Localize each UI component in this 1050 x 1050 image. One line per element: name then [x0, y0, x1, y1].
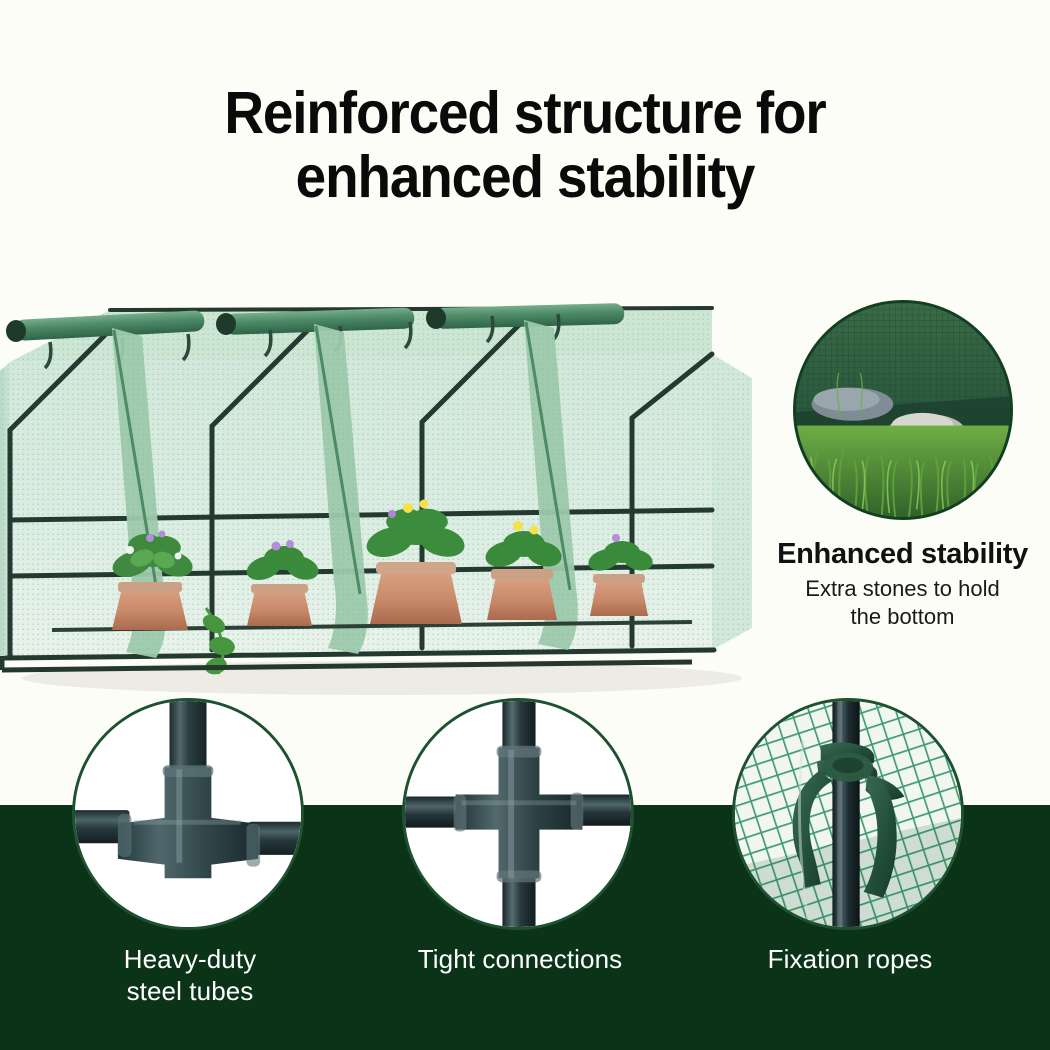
greenhouse-hero-image [0, 258, 782, 710]
enhanced-stability-callout: Enhanced stability Extra stones to hold … [755, 300, 1050, 630]
fixation-ropes-image [732, 698, 964, 930]
heavy-duty-steel-tubes-image [72, 698, 304, 930]
feature-caption-line-2: steel tubes [72, 976, 308, 1008]
feature-caption: Fixation ropes [732, 944, 968, 976]
enhanced-stability-subtitle: Extra stones to hold the bottom [755, 575, 1050, 630]
page-title: Reinforced structure for enhanced stabil… [37, 82, 1014, 209]
feature-caption: Heavy-duty steel tubes [72, 944, 308, 1007]
enhanced-stability-subtitle-line-1: Extra stones to hold [755, 575, 1050, 603]
page-title-line-1: Reinforced structure for [37, 82, 1014, 146]
feature-caption: Tight connections [402, 944, 638, 976]
enhanced-stability-title: Enhanced stability [755, 538, 1050, 571]
feature-caption-line-1: Fixation ropes [732, 944, 968, 976]
enhanced-stability-subtitle-line-2: the bottom [755, 603, 1050, 631]
feature-caption-line-1: Heavy-duty [72, 944, 308, 976]
feature-caption-line-1: Tight connections [402, 944, 638, 976]
feature-tight-connections: Tight connections [402, 698, 638, 976]
enhanced-stability-image [793, 300, 1013, 520]
feature-heavy-duty-steel-tubes: Heavy-duty steel tubes [72, 698, 308, 1007]
feature-fixation-ropes: Fixation ropes [732, 698, 968, 976]
tight-connections-image [402, 698, 634, 930]
page-title-line-2: enhanced stability [37, 146, 1014, 210]
